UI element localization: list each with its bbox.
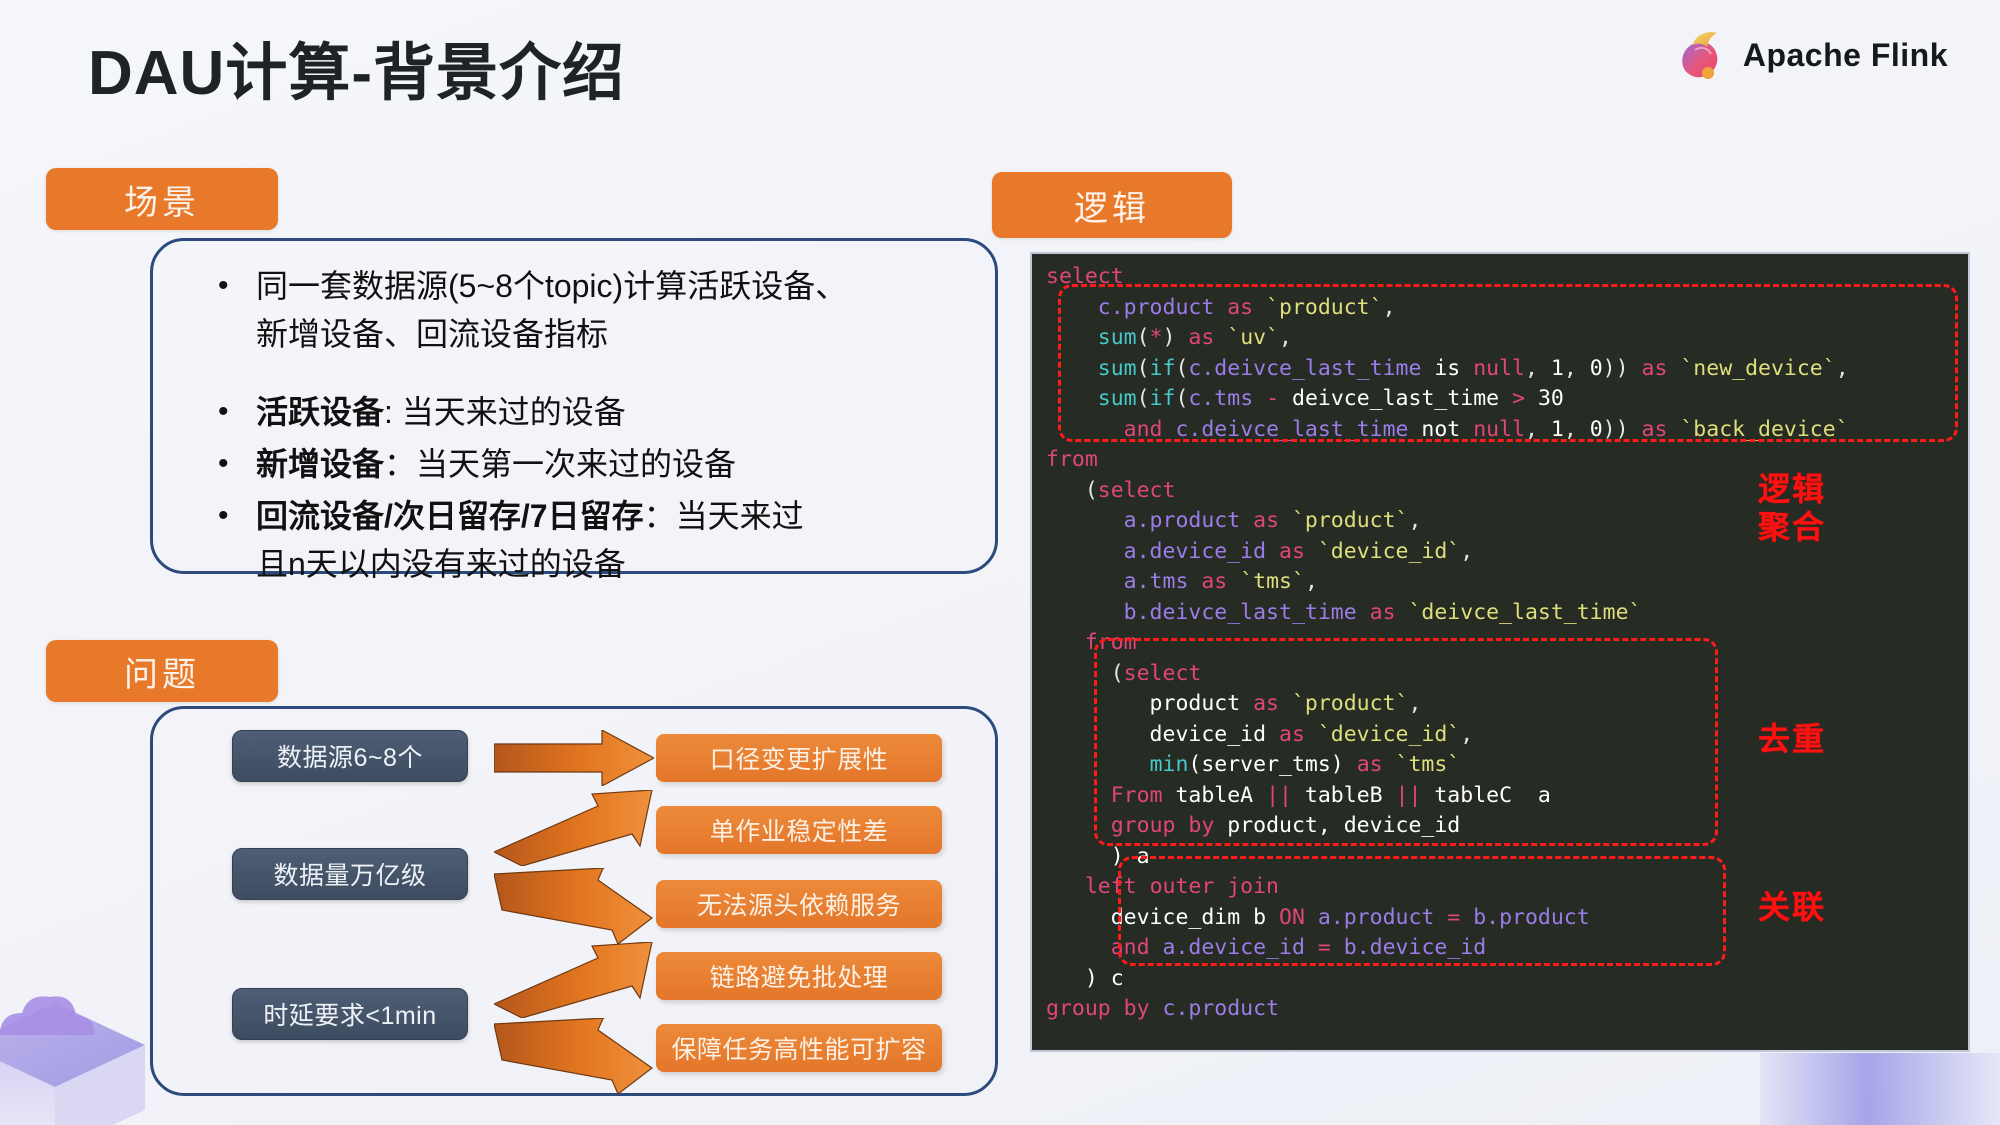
bullet-text: : 当天来过的设备	[384, 394, 626, 430]
orange-block-arrow-icon	[494, 730, 654, 786]
bullet-term: 新增设备	[256, 446, 384, 482]
list-item: • 回流设备/次日留存/7日留存：当天来过 且n天以内没有来过的设备	[218, 492, 958, 588]
list-item: • 活跃设备: 当天来过的设备	[218, 388, 958, 436]
annotation-aggregate: 逻辑 聚合	[1758, 470, 1826, 546]
source-box: 数据源6~8个	[232, 730, 468, 782]
annotation-line: 聚合	[1758, 508, 1826, 546]
orange-block-arrow-icon	[494, 942, 654, 1018]
scene-bullet-list: • 同一套数据源(5~8个topic)计算活跃设备、 新增设备、回流设备指标 •…	[218, 262, 958, 592]
source-box: 数据量万亿级	[232, 848, 468, 900]
section-pill-problem: 问题	[46, 640, 278, 702]
bullet-icon: •	[218, 440, 256, 488]
annotation-line: 逻辑	[1758, 470, 1826, 508]
annotation-join: 关联	[1758, 888, 1826, 926]
orange-block-arrow-icon	[494, 1018, 654, 1094]
bullet-text-cont: 且n天以内没有来过的设备	[256, 546, 626, 582]
flink-squirrel-icon	[1677, 28, 1729, 82]
orange-block-arrow-icon	[494, 790, 654, 866]
bullet-icon: •	[218, 492, 256, 540]
result-box: 口径变更扩展性	[656, 734, 942, 782]
page-title: DAU计算-背景介绍	[88, 22, 625, 112]
annotation-dedup: 去重	[1758, 720, 1826, 758]
brand-name: Apache Flink	[1743, 37, 1948, 74]
result-box: 链路避免批处理	[656, 952, 942, 1000]
source-box: 时延要求<1min	[232, 988, 468, 1040]
list-item: • 新增设备：当天第一次来过的设备	[218, 440, 958, 488]
bullet-icon: •	[218, 262, 256, 310]
bullet-term: 活跃设备	[256, 394, 384, 430]
result-box: 保障任务高性能可扩容	[656, 1024, 942, 1072]
result-box: 无法源头依赖服务	[656, 880, 942, 928]
section-pill-logic: 逻辑	[992, 172, 1232, 238]
bullet-text-cont: 新增设备、回流设备指标	[256, 316, 608, 352]
orange-block-arrow-icon	[494, 868, 654, 944]
sql-code-panel: select c.product as `product`, sum(*) as…	[1030, 252, 1970, 1052]
sql-code-block: select c.product as `product`, sum(*) as…	[1046, 262, 1849, 1025]
slide-canvas: DAU计算-背景介绍 Apache Flink 场景 • 同一套数据源(5~8个	[0, 0, 2000, 1125]
bullet-text: ：当天第一次来过的设备	[384, 446, 736, 482]
list-item: • 同一套数据源(5~8个topic)计算活跃设备、 新增设备、回流设备指标	[218, 262, 958, 358]
bullet-text: ：当天来过	[644, 498, 804, 534]
bullet-icon: •	[218, 388, 256, 436]
bullet-term: 回流设备/次日留存/7日留存	[256, 498, 644, 534]
section-pill-scene: 场景	[46, 168, 278, 230]
result-box: 单作业稳定性差	[656, 806, 942, 854]
bullet-text: 同一套数据源(5~8个topic)计算活跃设备、	[256, 268, 847, 304]
brand-logo: Apache Flink	[1677, 28, 1948, 82]
